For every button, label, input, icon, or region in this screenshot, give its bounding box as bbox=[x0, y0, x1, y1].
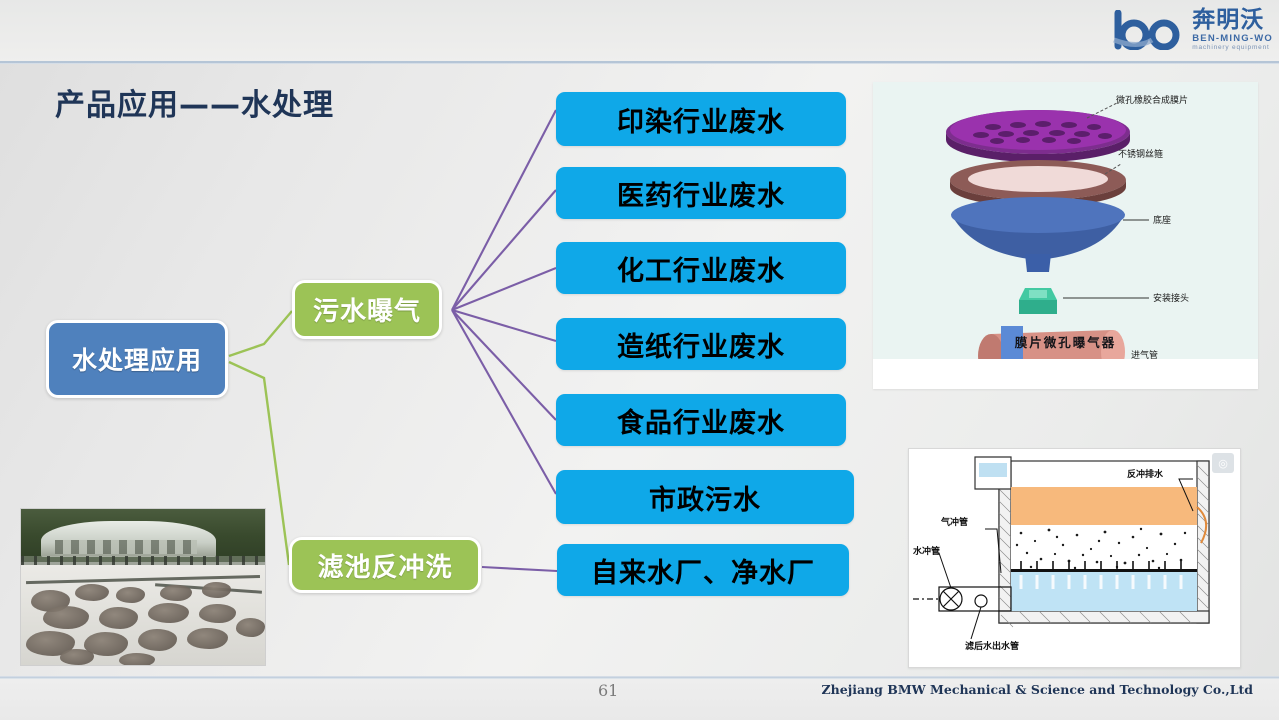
page-number: 61 bbox=[598, 681, 618, 700]
leaf-label: 化工行业废水 bbox=[617, 249, 785, 288]
filter-label-backwash-drain: 反冲排水 bbox=[1127, 467, 1163, 480]
logo-tagline: machinery equipment bbox=[1192, 45, 1269, 52]
image-watermark-icon: ◎ bbox=[1212, 453, 1234, 473]
diffuser-label-connector: 安装接头 bbox=[1153, 291, 1189, 304]
logo-en-name: BEN-MING-WO bbox=[1192, 34, 1273, 44]
leaf-waterworks-purification-plant[interactable]: 自来水厂、净水厂 bbox=[557, 544, 849, 596]
leaf-label: 医药行业废水 bbox=[617, 174, 785, 213]
leaf-printing-dyeing-wastewater[interactable]: 印染行业废水 bbox=[556, 92, 846, 146]
leaf-label: 印染行业废水 bbox=[617, 100, 785, 139]
company-logo: 奔明沃 BEN-MING-WO machinery equipment bbox=[1077, 2, 1273, 58]
filter-label-air-scour-pipe: 气冲管 bbox=[941, 515, 968, 528]
leaf-food-wastewater[interactable]: 食品行业废水 bbox=[556, 394, 846, 446]
node-backwash-label: 滤池反冲洗 bbox=[317, 547, 452, 584]
leaf-label: 食品行业废水 bbox=[617, 401, 785, 440]
slide-canvas: 奔明沃 BEN-MING-WO machinery equipment 产品应用… bbox=[0, 0, 1279, 720]
logo-cn-name: 奔明沃 bbox=[1192, 9, 1264, 32]
diffuser-label-membrane: 微孔橡胶合成膜片 bbox=[1116, 93, 1188, 106]
leaf-label: 自来水厂、净水厂 bbox=[591, 551, 815, 590]
diffuser-label-base: 底座 bbox=[1153, 213, 1171, 226]
diffuser-caption: 膜片微孔曝气器 bbox=[873, 332, 1258, 351]
filter-label-filtered-outlet-pipe: 滤后水出水管 bbox=[965, 639, 1019, 652]
membrane-diffuser-diagram: 微孔橡胶合成膜片 不锈钢丝箍 底座 安装接头 进气管 膜片微孔曝气器 bbox=[873, 82, 1258, 389]
header-divider bbox=[0, 61, 1279, 64]
diffuser-label-steel-ring: 不锈钢丝箍 bbox=[1118, 147, 1163, 160]
leaf-municipal-sewage[interactable]: 市政污水 bbox=[556, 470, 854, 524]
company-footer-text: Zhejiang BMW Mechanical & Science and Te… bbox=[822, 682, 1253, 697]
node-sewage-aeration[interactable]: 污水曝气 bbox=[292, 280, 442, 339]
leaf-pharmaceutical-wastewater[interactable]: 医药行业废水 bbox=[556, 167, 846, 219]
filter-label-water-scour-pipe: 水冲管 bbox=[913, 544, 940, 557]
page-title: 产品应用——水处理 bbox=[55, 80, 334, 124]
node-filter-backwash[interactable]: 滤池反冲洗 bbox=[289, 537, 481, 593]
node-water-treatment-application[interactable]: 水处理应用 bbox=[46, 320, 228, 398]
leaf-papermaking-wastewater[interactable]: 造纸行业废水 bbox=[556, 318, 846, 370]
leaf-label: 造纸行业废水 bbox=[617, 325, 785, 364]
leaf-chemical-wastewater[interactable]: 化工行业废水 bbox=[556, 242, 846, 294]
node-root-label: 水处理应用 bbox=[72, 341, 202, 377]
leaf-label: 市政污水 bbox=[649, 478, 761, 517]
diffuser-white-band bbox=[873, 359, 1258, 389]
bo-monogram-icon bbox=[1112, 10, 1188, 50]
node-aeration-label: 污水曝气 bbox=[313, 291, 421, 328]
aeration-basin-photo bbox=[20, 508, 266, 666]
filter-backwash-diagram: 反冲排水 气冲管 水冲管 滤后水出水管 ◎ bbox=[908, 448, 1241, 668]
